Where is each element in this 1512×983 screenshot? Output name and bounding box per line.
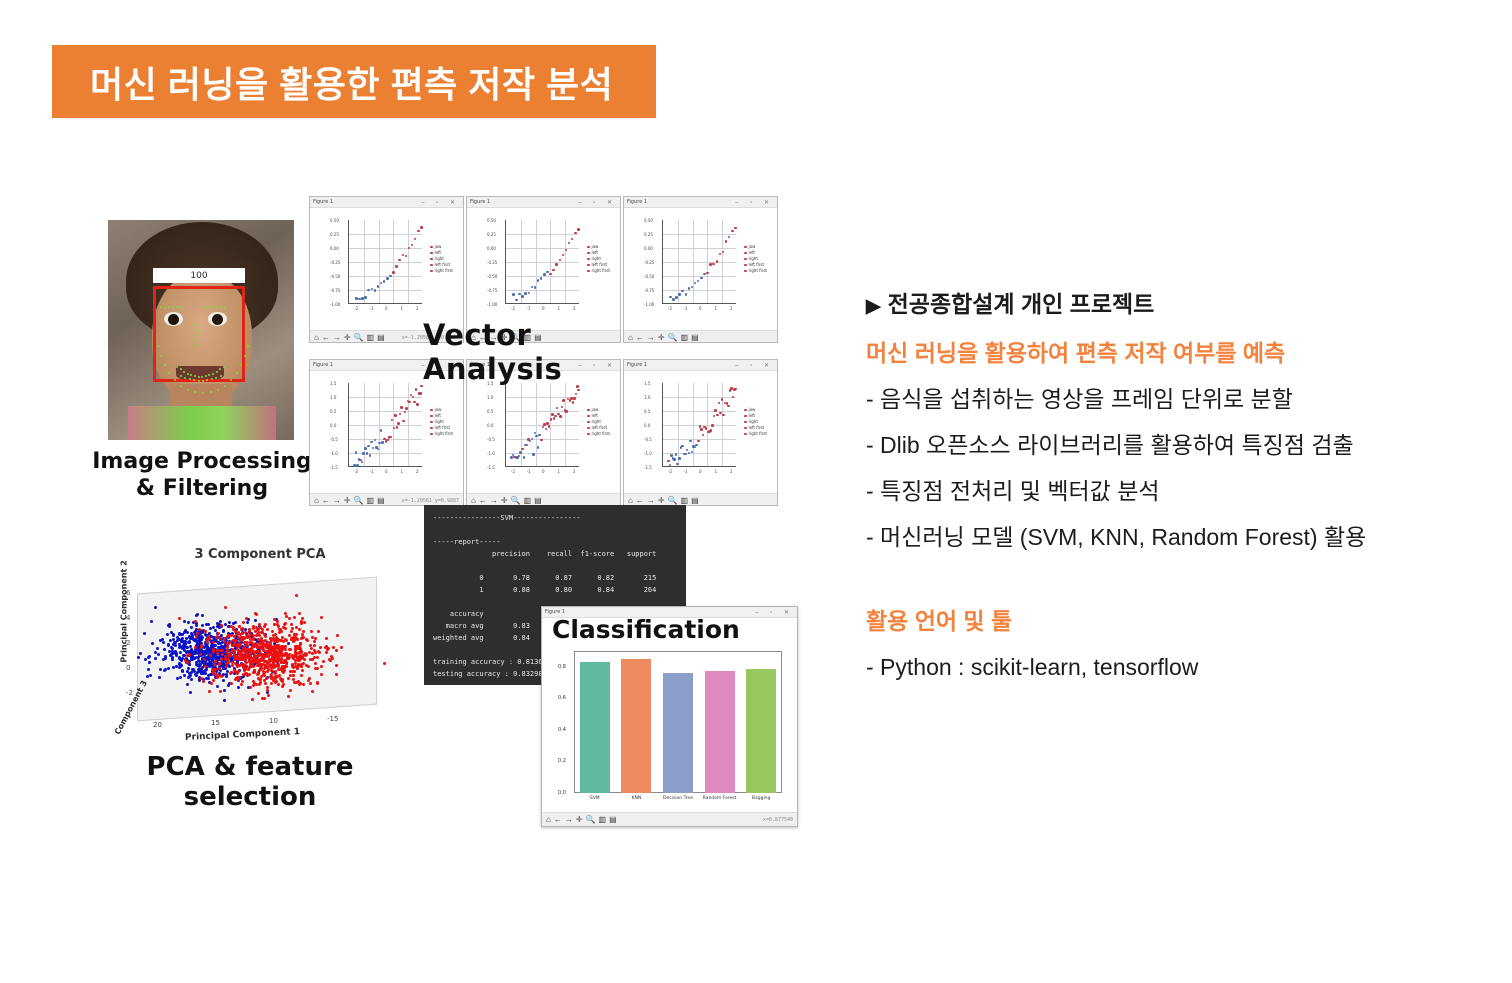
scatter-point — [678, 293, 681, 296]
save-icon[interactable]: ▤ — [691, 333, 699, 342]
y-tick-label: 1.5 — [330, 381, 336, 386]
scatter-point — [734, 227, 737, 230]
pca-point — [313, 656, 316, 659]
window-controls[interactable]: ‒ ▫ ✕ — [421, 199, 460, 206]
scatter-point — [510, 456, 513, 459]
x-tick-label: 2 — [573, 469, 576, 474]
configure-icon[interactable]: ▥ — [367, 496, 375, 505]
pca-point — [265, 677, 268, 680]
classification-toolbar[interactable]: ⌂ ← → ✛ 🔍 ▥ ▤ x=0.877548 — [542, 812, 797, 826]
figure-canvas[interactable]: 0.500.250.00-0.25-0.50-0.75-1.00-2-1012j… — [467, 208, 620, 330]
summary-line: 머신 러닝을 활용하여 편측 저작 여부를 예측 — [866, 330, 1486, 376]
legend-marker-icon — [430, 415, 433, 418]
figure-window-titlebar: Figure 1‒ ▫ ✕ — [467, 197, 620, 208]
pca-point — [266, 628, 269, 631]
scatter-point — [370, 441, 373, 444]
scatter-point — [383, 280, 386, 283]
pan-icon[interactable]: ✛ — [501, 496, 508, 505]
pca-point — [320, 665, 323, 668]
scatter-point — [524, 292, 527, 295]
scatter-point — [697, 280, 700, 283]
pca-point — [277, 668, 280, 671]
pca-point — [301, 636, 304, 639]
pca-point — [277, 683, 280, 686]
vector-analysis-overlay-label: Vector Analysis — [423, 318, 562, 386]
scatter-point — [575, 393, 578, 396]
zoom-icon[interactable]: 🔍 — [586, 815, 596, 824]
gridline — [678, 220, 679, 303]
pca-point — [249, 633, 252, 636]
forward-arrow-icon[interactable]: → — [333, 496, 341, 505]
x-tick-label: 1 — [558, 306, 561, 311]
pca-point — [210, 682, 213, 685]
pca-point — [163, 669, 166, 672]
save-icon[interactable]: ▤ — [691, 496, 699, 505]
pca-point — [273, 618, 276, 621]
pan-icon[interactable]: ✛ — [344, 333, 351, 342]
zoom-icon[interactable]: 🔍 — [354, 333, 364, 342]
pca-point — [219, 649, 222, 652]
configure-icon[interactable]: ▥ — [681, 333, 689, 342]
pca-point — [174, 650, 177, 653]
scatter-point — [405, 407, 408, 410]
pca-point — [215, 673, 218, 676]
scatter-point — [728, 236, 731, 239]
gridline — [722, 383, 723, 466]
pca-point — [319, 646, 322, 649]
figure-window-titlebar: Figure 1‒ ▫ ✕ — [624, 197, 777, 208]
gridline — [663, 397, 736, 398]
x-tick-label: 1 — [715, 469, 718, 474]
legend-marker-icon — [430, 252, 433, 255]
window-controls[interactable]: ‒ ▫ ✕ — [755, 609, 794, 616]
pca-point — [311, 690, 314, 693]
scatter-point — [571, 238, 574, 241]
figure-canvas[interactable]: 0.500.250.00-0.25-0.50-0.75-1.00-2-1012j… — [310, 208, 463, 330]
x-tick-label: -1 — [684, 306, 688, 311]
pca-point — [156, 647, 159, 650]
scatter-point — [577, 228, 580, 231]
pca-point — [302, 630, 305, 633]
scatter-point — [364, 296, 367, 299]
bar — [746, 669, 776, 793]
forward-arrow-icon[interactable]: → — [333, 333, 341, 342]
back-arrow-icon[interactable]: ← — [636, 496, 644, 505]
y-tick-label: -0.25 — [487, 260, 497, 265]
window-controls[interactable]: ‒ ▫ ✕ — [735, 199, 774, 206]
y-tick-label: -0.75 — [330, 288, 340, 293]
scatter-point — [537, 446, 540, 449]
back-arrow-icon[interactable]: ← — [636, 333, 644, 342]
scatter-point — [718, 402, 721, 405]
bullet-item-4: - 머신러닝 모델 (SVM, KNN, Random Forest) 활용 — [866, 514, 1486, 560]
pca-point — [288, 617, 291, 620]
scatter-point — [573, 397, 576, 400]
pca-point — [280, 639, 283, 642]
scatter-point — [577, 389, 580, 392]
pca-point — [281, 648, 284, 651]
home-icon[interactable]: ⌂ — [314, 496, 319, 505]
figure-canvas[interactable]: 1.51.00.50.0-0.5-1.0-1.5-2-1012jawleftri… — [624, 371, 777, 493]
scatter-point — [378, 442, 381, 445]
pca-point — [181, 669, 184, 672]
y-tick-label: -1.0 — [487, 451, 495, 456]
x-tick-label: 0 — [385, 469, 388, 474]
pca-point — [254, 612, 257, 615]
window-controls[interactable]: ‒ ▫ ✕ — [578, 362, 617, 369]
zoom-icon[interactable]: 🔍 — [668, 496, 678, 505]
scatter-point — [734, 388, 737, 391]
y-tick-label: -0.25 — [330, 260, 340, 265]
save-icon[interactable]: ▤ — [377, 496, 385, 505]
pca-point — [260, 637, 263, 640]
configure-icon[interactable]: ▥ — [599, 815, 607, 824]
legend-entry: right first — [587, 268, 610, 274]
pca-x-tick: 15 — [211, 719, 220, 727]
pca-point — [143, 632, 146, 635]
pca-point — [209, 627, 212, 630]
caption-line-1: Image Processing — [78, 448, 326, 475]
y-tick-label: -1.00 — [330, 302, 340, 307]
gridline — [707, 220, 708, 303]
pca-point — [225, 665, 228, 668]
scatter-point — [713, 415, 716, 418]
scatter-point — [568, 242, 571, 245]
pca-point — [303, 621, 306, 624]
pca-point — [269, 675, 272, 678]
scatter-point — [534, 286, 537, 289]
x-tick-label: 0 — [385, 306, 388, 311]
scatter-point — [714, 409, 717, 412]
pca-point — [245, 617, 248, 620]
pca-point — [316, 667, 319, 670]
pca-point — [179, 665, 182, 668]
home-icon[interactable]: ⌂ — [546, 815, 551, 824]
scatter-point — [408, 401, 411, 404]
gridline — [550, 383, 551, 466]
pca-point — [227, 661, 230, 664]
pca-point — [171, 647, 174, 650]
save-icon[interactable]: ▤ — [534, 496, 542, 505]
pca-point — [150, 620, 153, 623]
scatter-point — [572, 401, 575, 404]
pca-point — [253, 651, 256, 654]
forward-arrow-icon[interactable]: → — [490, 496, 498, 505]
legend-marker-icon — [744, 264, 747, 267]
scatter-point — [694, 446, 697, 449]
project-line-text: 전공종합설계 개인 프로젝트 — [888, 291, 1155, 317]
scatter-point — [414, 238, 417, 241]
scatter-point — [545, 428, 548, 431]
gridline — [506, 290, 579, 291]
zoom-icon[interactable]: 🔍 — [354, 496, 364, 505]
plot-axes — [348, 220, 422, 304]
legend-marker-icon — [430, 270, 433, 273]
scatter-point — [722, 251, 725, 254]
scatter-point — [710, 429, 713, 432]
pca-point — [209, 663, 212, 666]
pca-point — [224, 606, 227, 609]
legend-marker-icon — [744, 415, 747, 418]
scatter-point — [519, 451, 522, 454]
forward-arrow-icon[interactable]: → — [647, 333, 655, 342]
pca-point — [314, 662, 317, 665]
section-spacer — [866, 560, 1486, 598]
gridline — [408, 383, 409, 466]
pca-point — [283, 661, 286, 664]
pan-icon[interactable]: ✛ — [658, 333, 665, 342]
pca-point — [252, 634, 255, 637]
home-icon[interactable]: ⌂ — [471, 496, 476, 505]
scatter-point — [404, 411, 407, 414]
zoom-icon[interactable]: 🔍 — [511, 496, 521, 505]
x-tick-label: 2 — [416, 469, 419, 474]
pca-point — [222, 679, 225, 682]
pca-point — [307, 679, 310, 682]
figure-window-title: Figure 1 — [470, 199, 490, 205]
legend-marker-icon — [744, 427, 747, 430]
gridline — [663, 262, 736, 263]
pca-point — [219, 637, 222, 640]
y-tick-label: -0.50 — [330, 274, 340, 279]
scatter-point — [730, 387, 733, 390]
pca-point — [154, 657, 157, 660]
scatter-point — [366, 452, 369, 455]
x-tick-label: 2 — [416, 306, 419, 311]
scatter-point — [402, 420, 405, 423]
x-tick-label: -1 — [527, 469, 531, 474]
forward-arrow-icon[interactable]: → — [565, 815, 573, 824]
pca-point — [313, 640, 316, 643]
pca-point — [309, 658, 312, 661]
pca-point — [230, 682, 233, 685]
pca-point — [311, 636, 314, 639]
bar — [621, 659, 651, 793]
gridline — [678, 383, 679, 466]
pca-point — [212, 672, 215, 675]
pca-point — [268, 658, 271, 661]
legend-marker-icon — [430, 246, 433, 249]
scatter-point — [420, 226, 423, 229]
scatter-point — [362, 452, 365, 455]
plot-legend: jawleftrightleft firstright first — [587, 244, 610, 274]
gridline — [349, 262, 422, 263]
pca-point — [244, 672, 247, 675]
save-icon[interactable]: ▤ — [377, 333, 385, 342]
pca-point — [216, 652, 219, 655]
gridline — [379, 383, 380, 466]
legend-marker-icon — [430, 409, 433, 412]
x-tick-label: 0 — [542, 306, 545, 311]
pca-point — [187, 667, 190, 670]
x-tick-label: -1 — [370, 469, 374, 474]
scatter-point — [562, 399, 565, 402]
scatter-point — [669, 464, 672, 467]
figure-canvas[interactable]: 1.51.00.50.0-0.5-1.0-1.5-2-1012jawleftri… — [467, 371, 620, 493]
pca-point — [230, 634, 233, 637]
pca-point — [225, 651, 228, 654]
bar-y-tick: 0.2 — [558, 758, 566, 764]
x-tick-label: 2 — [573, 306, 576, 311]
legend-marker-icon — [430, 421, 433, 424]
project-line: ▶전공종합설계 개인 프로젝트 — [866, 281, 1486, 330]
y-tick-label: -1.5 — [487, 465, 495, 470]
scatter-point — [399, 413, 402, 416]
configure-icon[interactable]: ▥ — [367, 333, 375, 342]
figure-window[interactable]: Figure 1‒ ▫ ✕1.51.00.50.0-0.5-1.0-1.5-2-… — [623, 359, 778, 506]
bar-x-label: Random Forest — [699, 796, 741, 801]
pca-point — [199, 670, 202, 673]
pca-point — [301, 669, 304, 672]
bar-y-tick: 0.4 — [558, 727, 566, 733]
figure-window[interactable]: Figure 1‒ ▫ ✕0.500.250.00-0.25-0.50-0.75… — [623, 196, 778, 343]
bar-y-tick: 0.0 — [558, 790, 566, 796]
pca-point — [183, 620, 186, 623]
configure-icon[interactable]: ▥ — [681, 496, 689, 505]
pca-point — [195, 624, 198, 627]
pca-point — [302, 654, 305, 657]
pca-point — [267, 694, 270, 697]
pca-point — [228, 655, 231, 658]
pca-point — [335, 673, 338, 676]
pca-point — [254, 660, 257, 663]
window-controls[interactable]: ‒ ▫ ✕ — [578, 199, 617, 206]
zoom-icon[interactable]: 🔍 — [668, 333, 678, 342]
back-arrow-icon[interactable]: ← — [322, 496, 330, 505]
pan-icon[interactable]: ✛ — [344, 496, 351, 505]
x-tick-label: -2 — [668, 306, 672, 311]
scatter-point — [381, 441, 384, 444]
scatter-point — [700, 277, 703, 280]
gridline — [663, 453, 736, 454]
pca-point — [298, 683, 301, 686]
pca-point — [264, 643, 267, 646]
pca-point — [309, 682, 312, 685]
pca-point — [331, 657, 334, 660]
y-tick-label: 1.0 — [644, 395, 650, 400]
scatter-point — [380, 429, 383, 432]
back-arrow-icon[interactable]: ← — [322, 333, 330, 342]
pca-point — [198, 660, 201, 663]
scatter-point — [731, 230, 734, 233]
legend-label: right first — [749, 431, 768, 437]
scatter-point — [719, 412, 722, 415]
pca-point — [212, 641, 215, 644]
pca-point — [263, 671, 266, 674]
x-tick-label: -1 — [684, 469, 688, 474]
figure-window-title: Figure 1 — [627, 199, 647, 205]
bullet-item-3: - 특징점 전처리 및 벡터값 분석 — [866, 468, 1486, 514]
pan-icon[interactable]: ✛ — [576, 815, 583, 824]
legend-marker-icon — [587, 415, 590, 418]
x-tick-label: 1 — [401, 306, 404, 311]
pca-point — [383, 662, 386, 665]
pan-icon[interactable]: ✛ — [658, 496, 665, 505]
image-processing-caption: Image Processing & Filtering — [78, 448, 326, 502]
y-tick-label: 0.25 — [330, 232, 339, 237]
pca-point — [176, 636, 179, 639]
y-tick-label: -1.00 — [644, 302, 654, 307]
window-controls[interactable]: ‒ ▫ ✕ — [735, 362, 774, 369]
scatter-point — [535, 435, 538, 438]
y-tick-label: -1.00 — [487, 302, 497, 307]
pca-point — [178, 657, 181, 660]
legend-marker-icon — [744, 270, 747, 273]
back-arrow-icon[interactable]: ← — [554, 815, 562, 824]
pca-point — [335, 649, 338, 652]
scatter-point — [398, 259, 401, 262]
scatter-point — [393, 427, 396, 430]
scatter-point — [675, 296, 678, 299]
x-tick-label: 0 — [699, 469, 702, 474]
legend-marker-icon — [587, 246, 590, 249]
pca-point — [213, 663, 216, 666]
arrow-marker-icon: ▶ — [866, 296, 881, 317]
pca-point — [266, 689, 269, 692]
home-icon[interactable]: ⌂ — [628, 333, 633, 342]
bar-x-label: KNN — [616, 796, 658, 801]
gridline — [663, 248, 736, 249]
y-tick-label: -0.5 — [487, 437, 495, 442]
configure-icon[interactable]: ▥ — [524, 496, 532, 505]
pca-point — [139, 652, 142, 655]
pca-point — [172, 633, 175, 636]
gridline — [536, 383, 537, 466]
scatter-point — [727, 405, 730, 408]
legend-entry: right first — [744, 268, 767, 274]
figure-window-title: Figure 1 — [313, 199, 333, 205]
gridline — [663, 234, 736, 235]
pca-point — [292, 674, 295, 677]
scatter-point — [549, 273, 552, 276]
scatter-point — [546, 422, 549, 425]
pca-point — [244, 641, 247, 644]
bar-y-tick: 0.6 — [558, 695, 566, 701]
tools-line: - Python : scikit-learn, tensorflow — [866, 644, 1486, 690]
figure-window-titlebar: Figure 1‒ ▫ ✕ — [624, 360, 777, 371]
pca-point — [251, 645, 254, 648]
save-icon[interactable]: ▤ — [609, 815, 617, 824]
scatter-point — [411, 244, 414, 247]
home-icon[interactable]: ⌂ — [628, 496, 633, 505]
scatter-point — [685, 293, 688, 296]
figure-canvas[interactable]: 0.500.250.00-0.25-0.50-0.75-1.00-2-1012j… — [624, 208, 777, 330]
y-tick-label: 1.5 — [644, 381, 650, 386]
scatter-point — [551, 413, 554, 416]
scatter-point — [416, 403, 419, 406]
x-tick-label: 0 — [542, 469, 545, 474]
pca-point — [325, 651, 328, 654]
scatter-point — [377, 285, 380, 288]
pca-caption: PCA & feature selection — [80, 752, 420, 812]
home-icon[interactable]: ⌂ — [314, 333, 319, 342]
pca-point — [316, 681, 319, 684]
back-arrow-icon[interactable]: ← — [479, 496, 487, 505]
scatter-point — [570, 397, 573, 400]
classification-overlay-label: Classification — [552, 615, 740, 644]
figure-canvas[interactable]: 1.51.00.50.0-0.5-1.0-1.5-2-1012jawleftri… — [310, 371, 463, 493]
pca-point — [305, 638, 308, 641]
scatter-point — [374, 439, 377, 442]
gridline — [506, 262, 579, 263]
pca-point — [295, 626, 298, 629]
y-tick-label: 0.00 — [330, 246, 339, 251]
figure-toolbar[interactable]: ⌂←→✛🔍▥▤ — [624, 330, 777, 343]
pca-x-tick: -15 — [327, 715, 338, 723]
pca-figure: 3 Component PCA 201510-156420-2 Principa… — [95, 545, 425, 760]
scatter-point — [561, 406, 564, 409]
forward-arrow-icon[interactable]: → — [647, 496, 655, 505]
